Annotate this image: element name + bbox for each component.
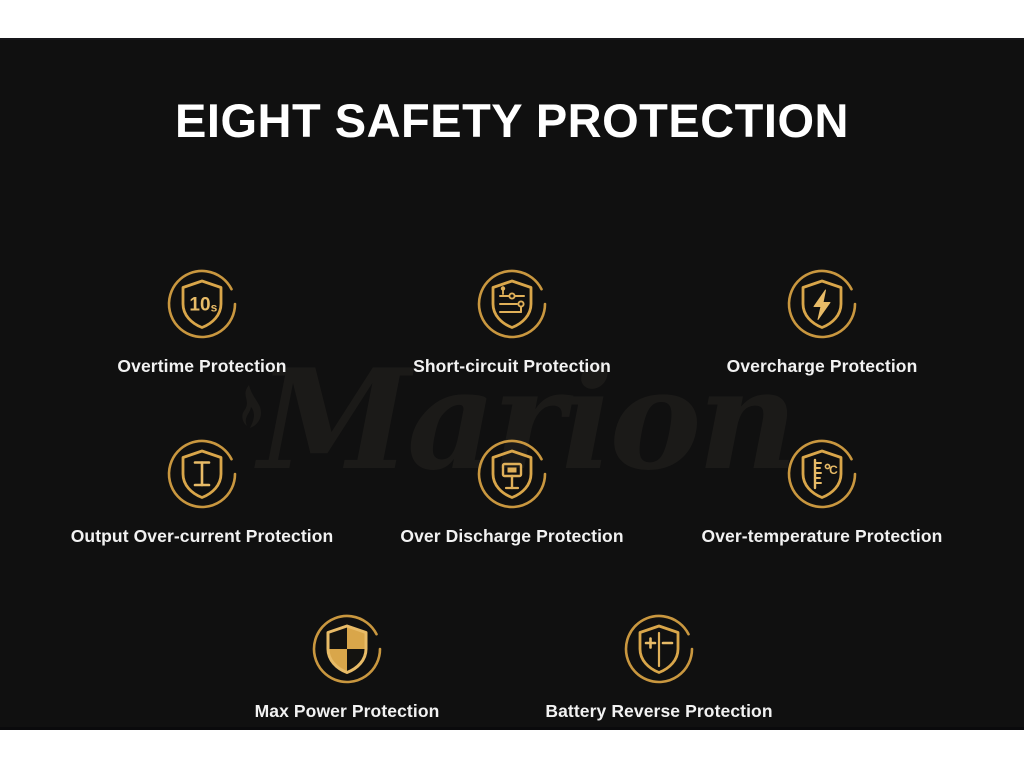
shield-lightning-icon [782, 264, 862, 344]
protection-item-battery-reverse: Battery Reverse Protection [499, 609, 819, 722]
protection-item-label: Over-temperature Protection [662, 526, 982, 547]
protection-item-label: Output Over-current Protection [42, 526, 362, 547]
protection-item-label: Over Discharge Protection [352, 526, 672, 547]
shield-current-icon [162, 434, 242, 514]
protection-item-label: Overcharge Protection [662, 356, 982, 377]
protection-item-label: Overtime Protection [42, 356, 362, 377]
protection-item-overtime: 10 s Overtime Protection [42, 264, 362, 377]
svg-text:s: s [211, 301, 218, 315]
shield-10s-icon: 10 s [162, 264, 242, 344]
protection-item-output-over-current: Output Over-current Protection [42, 434, 362, 547]
page-title: EIGHT SAFETY PROTECTION [0, 93, 1024, 148]
protection-item-over-discharge: Over Discharge Protection [352, 434, 672, 547]
safety-banner: Marion EIGHT SAFETY PROTECTION 10 s Over… [0, 38, 1024, 730]
svg-text:10: 10 [189, 295, 210, 316]
content-grid: EIGHT SAFETY PROTECTION 10 s Overtime Pr… [0, 38, 1024, 730]
shield-thermometer-icon: C [782, 434, 862, 514]
protection-item-max-power: Max Power Protection [187, 609, 507, 722]
page-root: Marion EIGHT SAFETY PROTECTION 10 s Over… [0, 0, 1024, 768]
protection-item-label: Battery Reverse Protection [499, 701, 819, 722]
shield-quadrant-icon [307, 609, 387, 689]
protection-item-overcharge: Overcharge Protection [662, 264, 982, 377]
protection-item-over-temperature: C Over-temperature Protection [662, 434, 982, 547]
protection-item-label: Max Power Protection [187, 701, 507, 722]
protection-item-short-circuit: Short-circuit Protection [352, 264, 672, 377]
shield-circuit-icon [472, 264, 552, 344]
shield-battery-discharge-icon [472, 434, 552, 514]
svg-text:C: C [829, 463, 838, 477]
shield-polarity-icon [619, 609, 699, 689]
protection-item-label: Short-circuit Protection [352, 356, 672, 377]
